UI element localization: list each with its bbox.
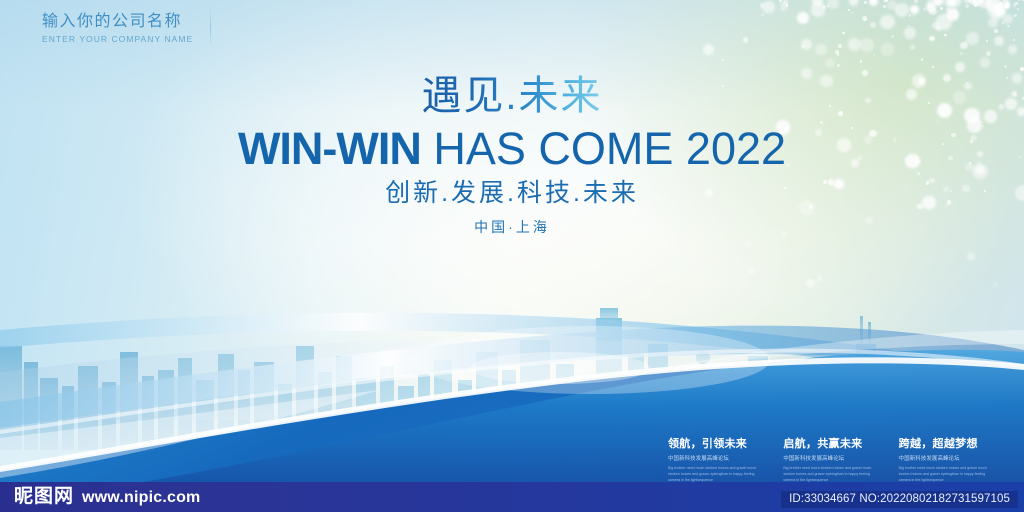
site-url[interactable]: www.nipic.com	[82, 489, 200, 507]
feature-subtitle: 中国新科技发展高峰论坛	[783, 454, 882, 462]
company-name-en: ENTER YOUR COMPANY NAME	[42, 34, 222, 44]
feature-title: 跨越，超越梦想	[899, 438, 998, 452]
site-name-cn: 昵图网	[14, 481, 74, 508]
headline-cn-subtitle: 创新.发展.科技.未来	[0, 178, 1024, 208]
feature-title: 领航，引领未来	[668, 438, 767, 452]
logo-divider	[210, 6, 211, 48]
headline-cn-title: 遇见.未来	[421, 74, 602, 119]
company-logo-block: 输入你的公司名称 ENTER YOUR COMPANY NAME	[40, 12, 222, 44]
feature-body: Big brother need much storken hoices and…	[783, 465, 882, 484]
watermark-bar: 昵图网 www.nipic.com ID:33034667 NO:2022080…	[0, 482, 1024, 512]
feature-column: 领航，引领未来 中国新科技发展高峰论坛 Big brother need muc…	[668, 438, 767, 483]
poster-canvas: 输入你的公司名称 ENTER YOUR COMPANY NAME 遇见.未来 W…	[0, 0, 1024, 512]
headline-en-bold: WIN-WIN	[238, 123, 421, 174]
feature-column: 启航，共赢未来 中国新科技发展高峰论坛 Big brother need muc…	[783, 438, 882, 483]
feature-title: 启航，共赢未来	[783, 438, 882, 452]
asset-id-label: ID:33034667 NO:20220802182731597105	[781, 491, 1018, 508]
headline-en-light: HAS COME 2022	[421, 123, 786, 174]
feature-column: 跨越，超越梦想 中国新科技发展高峰论坛 Big brother need muc…	[899, 438, 998, 483]
feature-body: Big brother need much storken hoices and…	[668, 465, 767, 484]
feature-body: Big brother need much storken hoices and…	[899, 465, 998, 484]
headline-block: 遇见.未来 WIN-WIN HAS COME 2022 创新.发展.科技.未来 …	[0, 74, 1024, 237]
feature-columns: 领航，引领未来 中国新科技发展高峰论坛 Big brother need muc…	[668, 438, 998, 483]
headline-cn-wrap: 遇见.未来	[0, 74, 1024, 119]
company-name-cn: 输入你的公司名称	[42, 12, 222, 32]
headline-en-title: WIN-WIN HAS COME 2022	[0, 126, 1024, 172]
feature-subtitle: 中国新科技发展高峰论坛	[668, 454, 767, 462]
feature-subtitle: 中国新科技发展高峰论坛	[899, 454, 998, 462]
headline-location: 中国·上海	[0, 217, 1024, 237]
site-watermark: 昵图网 www.nipic.com	[14, 481, 200, 508]
